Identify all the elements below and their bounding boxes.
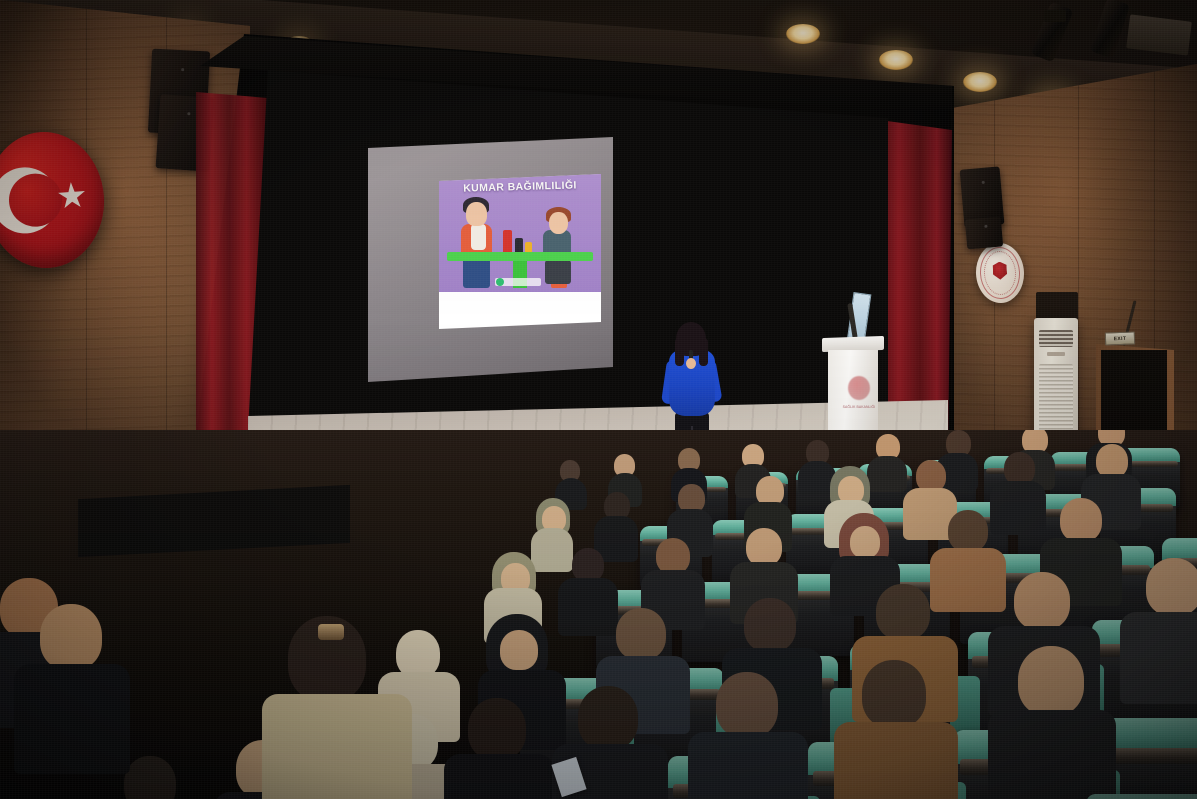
person-head — [1018, 646, 1084, 716]
illustration-person-shirt — [471, 224, 486, 250]
person-head — [1096, 444, 1128, 478]
podium-seal-icon — [848, 376, 870, 400]
podium: SAĞLIK BAKANLIĞI — [822, 337, 884, 433]
ac-brand-badge — [1047, 352, 1065, 356]
person-head — [572, 548, 604, 582]
exit-sign: EXIT — [1105, 331, 1135, 345]
person-head — [500, 630, 538, 670]
illustration-person-legs — [545, 260, 571, 284]
crescent-icon — [0, 165, 60, 235]
ac-vent-icon — [1039, 330, 1073, 347]
ac-duct-shadow — [1036, 292, 1078, 320]
person-head — [468, 698, 526, 760]
slide-logo-mark-icon — [496, 278, 504, 286]
podium-inscription: SAĞLIK BAKANLIĞI — [836, 405, 882, 410]
downlight-icon — [879, 50, 913, 70]
seat[interactable] — [1086, 794, 1197, 799]
person-head — [746, 528, 782, 566]
podium-body: SAĞLIK BAKANLIĞI — [828, 350, 878, 433]
person-head — [396, 630, 440, 678]
presentation-slide: KUMAR BAĞIMLILIĞI — [439, 174, 601, 329]
ceiling-mount-bracket — [1044, 10, 1066, 22]
person-body — [867, 456, 907, 492]
person-head — [850, 526, 880, 558]
person-head — [616, 608, 666, 660]
person-body — [834, 722, 958, 799]
person-head — [716, 672, 778, 738]
downlight-icon — [786, 24, 820, 44]
person-body — [688, 732, 808, 799]
illustration-person-head — [466, 202, 487, 226]
auditorium-photo: KUMAR BAĞIMLILIĞI SAĞLIK BAKANLIĞI — [0, 0, 1197, 799]
person-body — [14, 664, 130, 774]
person-head — [40, 604, 102, 670]
person-head — [948, 510, 988, 552]
illustration-table — [447, 252, 593, 261]
presenter-hand — [686, 358, 696, 369]
person-head — [862, 660, 926, 728]
person-head — [744, 598, 796, 652]
ac-grille — [1039, 364, 1073, 438]
wall-speaker — [965, 216, 1003, 249]
auditorium-seating-area: ÖZEL GÜVENLİK — [0, 430, 1197, 799]
illustration-person-legs — [463, 258, 490, 288]
person-body — [988, 710, 1116, 799]
person-body — [262, 694, 412, 799]
person-head — [656, 538, 690, 574]
person-head — [876, 584, 930, 640]
person-body — [444, 754, 554, 799]
person-head — [1060, 498, 1102, 542]
person-body — [930, 548, 1006, 612]
person-head — [578, 686, 638, 750]
illustration-person-head — [549, 212, 568, 234]
person-head — [124, 756, 176, 799]
downlight-icon — [963, 72, 997, 92]
air-conditioner-unit — [1034, 318, 1078, 446]
person-body — [990, 481, 1046, 535]
person-body — [531, 528, 573, 572]
person-body — [558, 578, 618, 636]
person-head — [1146, 558, 1197, 616]
exit-sign-label: EXIT — [1114, 335, 1127, 341]
person-head — [1014, 572, 1070, 630]
person-body — [1120, 612, 1197, 704]
hair-clip-icon — [318, 624, 344, 640]
